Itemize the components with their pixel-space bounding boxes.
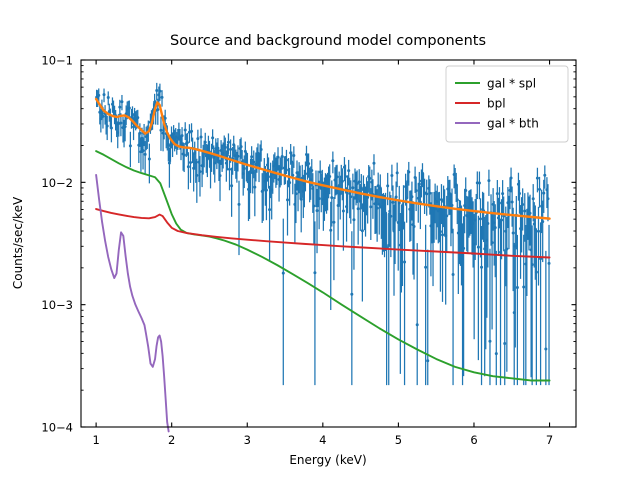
x-tick-label: 6 [470, 433, 477, 447]
data-point [281, 155, 284, 158]
data-point [537, 230, 540, 233]
data-point [158, 90, 161, 93]
data-point [347, 169, 350, 172]
data-point [187, 165, 190, 168]
data-point [265, 189, 268, 192]
data-point [107, 96, 110, 99]
data-point [516, 286, 519, 289]
data-point [260, 148, 263, 151]
data-point [342, 209, 345, 212]
data-point [462, 247, 465, 250]
data-point [478, 181, 481, 184]
data-point [181, 134, 184, 137]
data-point [439, 230, 442, 233]
data-point [230, 184, 233, 187]
data-point [503, 342, 506, 345]
data-point [510, 177, 513, 180]
data-point [282, 272, 285, 275]
data-point [358, 180, 361, 183]
data-point [496, 192, 499, 195]
data-point [250, 155, 253, 158]
data-point [291, 174, 294, 177]
data-point [195, 174, 198, 177]
data-point [536, 177, 539, 180]
data-point [425, 192, 428, 195]
data-point [119, 121, 122, 124]
x-axis-label: Energy (keV) [289, 453, 366, 467]
data-point [219, 174, 222, 177]
data-point [344, 175, 347, 178]
data-point [494, 226, 497, 229]
data-point [386, 184, 389, 187]
data-point [331, 159, 334, 162]
data-point [313, 271, 316, 274]
data-point [538, 188, 541, 191]
legend-label-gal-bth[interactable]: gal * bth [487, 116, 539, 130]
data-point [512, 231, 515, 234]
data-point [318, 197, 321, 200]
data-point [285, 159, 288, 162]
data-point [224, 146, 227, 149]
data-point [186, 141, 189, 144]
data-point [548, 262, 551, 265]
data-point [543, 174, 546, 177]
data-point [253, 186, 256, 189]
data-point [110, 127, 113, 130]
data-point [155, 89, 158, 92]
data-point [277, 156, 280, 159]
data-point [418, 183, 421, 186]
data-point [452, 273, 455, 276]
data-point [328, 175, 331, 178]
data-point [500, 218, 503, 221]
data-point [159, 129, 162, 132]
data-point [368, 177, 371, 180]
data-point [124, 125, 127, 128]
data-point [426, 359, 429, 362]
data-point [441, 233, 444, 236]
data-point [403, 261, 406, 264]
x-tick-label: 5 [395, 433, 402, 447]
data-point [415, 189, 418, 192]
data-point [456, 198, 459, 201]
data-point [144, 153, 147, 156]
data-point [391, 201, 394, 204]
x-tick-label: 1 [92, 433, 99, 447]
data-point [445, 214, 448, 217]
data-point [307, 162, 310, 165]
data-point [532, 197, 535, 200]
data-point [464, 189, 467, 192]
data-point [366, 196, 369, 199]
data-point [372, 162, 375, 165]
data-point [336, 175, 339, 178]
chart-title: Source and background model components [170, 33, 486, 49]
data-point [184, 128, 187, 131]
y-tick-label: 10−3 [41, 298, 73, 312]
data-point [286, 198, 289, 201]
data-point [535, 271, 538, 274]
data-point [523, 210, 526, 213]
data-point [501, 192, 504, 195]
data-point [243, 167, 246, 170]
data-point [252, 160, 255, 163]
data-point [198, 170, 201, 173]
data-point [148, 158, 151, 161]
data-point [396, 171, 399, 174]
y-axis-label: Counts/sec/keV [11, 196, 25, 289]
data-point [542, 192, 545, 195]
data-point [329, 229, 332, 232]
data-point [106, 124, 109, 127]
data-point [390, 174, 393, 177]
data-point [211, 136, 214, 139]
data-point [529, 212, 532, 215]
data-point [190, 130, 193, 133]
data-point [236, 155, 239, 158]
data-point [395, 195, 398, 198]
data-point [161, 96, 164, 99]
data-point [310, 169, 313, 172]
data-point [292, 154, 295, 157]
chart-svg: Source and background model components 1… [0, 0, 640, 480]
data-point [168, 162, 171, 165]
data-point [518, 192, 521, 195]
data-point [156, 108, 159, 111]
data-point [480, 266, 483, 269]
data-point [312, 204, 315, 207]
data-point [350, 293, 353, 296]
chart-legend[interactable]: gal * splbplgal * bth [446, 66, 568, 142]
x-tick-label: 7 [546, 433, 553, 447]
legend-label-gal-spl[interactable]: gal * spl [487, 76, 536, 90]
data-point [204, 141, 207, 144]
x-tick-label: 3 [244, 433, 251, 447]
data-point [316, 209, 319, 212]
data-point [351, 186, 354, 189]
data-point [428, 192, 431, 195]
data-point [451, 204, 454, 207]
y-tick-label: 10−1 [41, 54, 73, 68]
data-point [477, 246, 480, 249]
data-point [229, 148, 232, 151]
data-point [103, 93, 106, 96]
data-point [416, 323, 419, 326]
data-point [369, 205, 372, 208]
data-point [129, 144, 132, 147]
data-point [424, 266, 427, 269]
legend-label-bpl[interactable]: bpl [487, 96, 506, 110]
data-point [498, 201, 501, 204]
data-point [227, 141, 230, 144]
y-tick-label: 10−4 [41, 421, 73, 435]
data-point [487, 179, 490, 182]
data-point [341, 180, 344, 183]
data-point [361, 229, 364, 232]
data-point [495, 352, 498, 355]
data-point [357, 207, 360, 210]
data-point [521, 203, 524, 206]
data-point [352, 218, 355, 221]
data-point [128, 106, 131, 109]
data-point [300, 198, 303, 201]
data-point [413, 225, 416, 228]
data-point [136, 116, 139, 119]
figure-canvas: Source and background model components 1… [0, 0, 640, 480]
data-point [479, 217, 482, 220]
data-point [319, 171, 322, 174]
data-point [288, 181, 291, 184]
data-point [118, 106, 121, 109]
data-point [531, 263, 534, 266]
data-point [240, 145, 243, 148]
data-point [304, 172, 307, 175]
data-point [349, 195, 352, 198]
data-point [183, 153, 186, 156]
data-point [541, 220, 544, 223]
data-point [142, 149, 145, 152]
data-point [200, 135, 203, 138]
data-point [268, 208, 271, 211]
data-point [376, 207, 379, 210]
data-point [491, 241, 494, 244]
data-point [138, 132, 141, 135]
data-point [488, 340, 491, 343]
data-point [97, 94, 100, 97]
data-point [522, 285, 525, 288]
data-point [216, 147, 219, 150]
data-point [332, 221, 335, 224]
data-point [410, 195, 413, 198]
data-point [101, 115, 104, 118]
data-point [544, 348, 547, 351]
x-tick-label: 4 [319, 433, 326, 447]
data-point [546, 197, 549, 200]
data-point [330, 196, 333, 199]
x-tick-label: 2 [168, 433, 175, 447]
data-point [407, 170, 410, 173]
data-point [196, 137, 199, 140]
data-point [389, 215, 392, 218]
y-tick-label: 10−2 [41, 176, 73, 190]
data-point [505, 247, 508, 250]
data-point [486, 222, 489, 225]
data-point [294, 192, 297, 195]
data-point [120, 100, 123, 103]
data-point [237, 203, 240, 206]
data-point [228, 168, 231, 171]
data-point [189, 161, 192, 164]
data-point [511, 201, 514, 204]
